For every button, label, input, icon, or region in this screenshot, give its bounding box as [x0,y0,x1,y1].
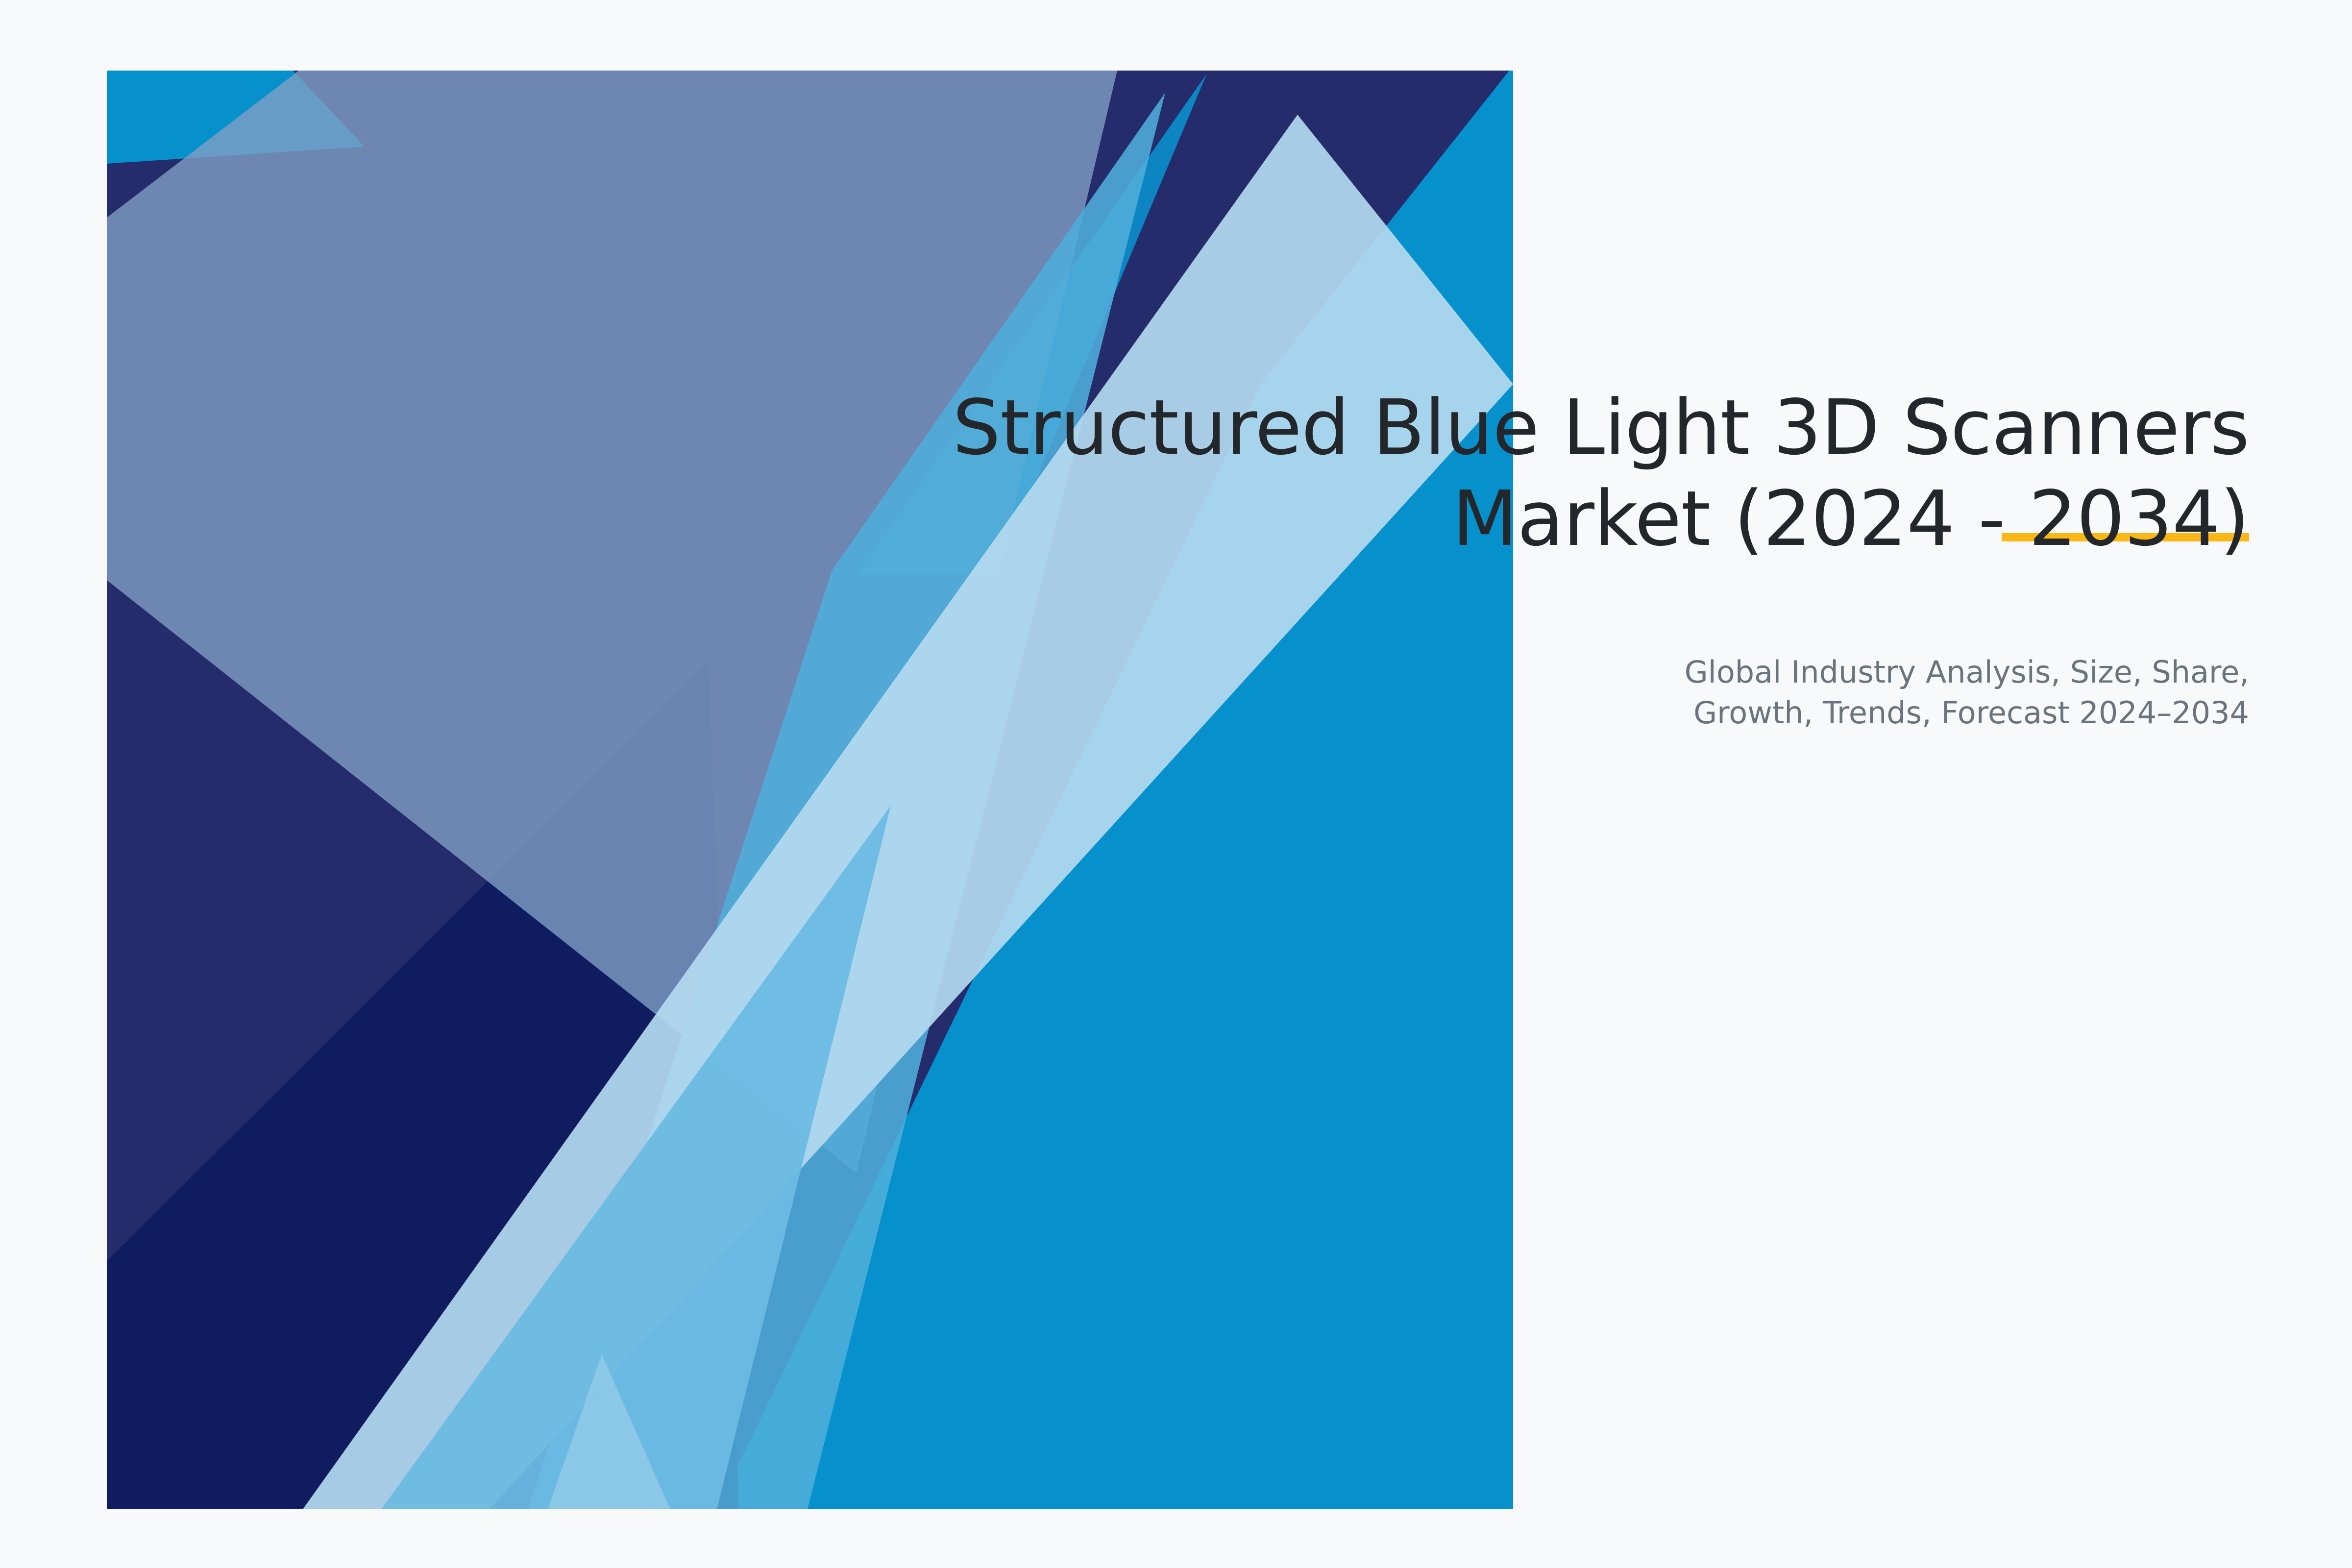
page-subtitle: Global Industry Analysis, Size, Share, G… [1225,652,2249,733]
title-block: Structured Blue Light 3D Scanners Market… [892,382,2249,564]
report-cover-page: Structured Blue Light 3D Scanners Market… [0,0,2352,1568]
artwork-svg [107,71,1513,1509]
page-title: Structured Blue Light 3D Scanners Market… [892,382,2249,564]
abstract-geometric-artwork [107,71,1513,1509]
